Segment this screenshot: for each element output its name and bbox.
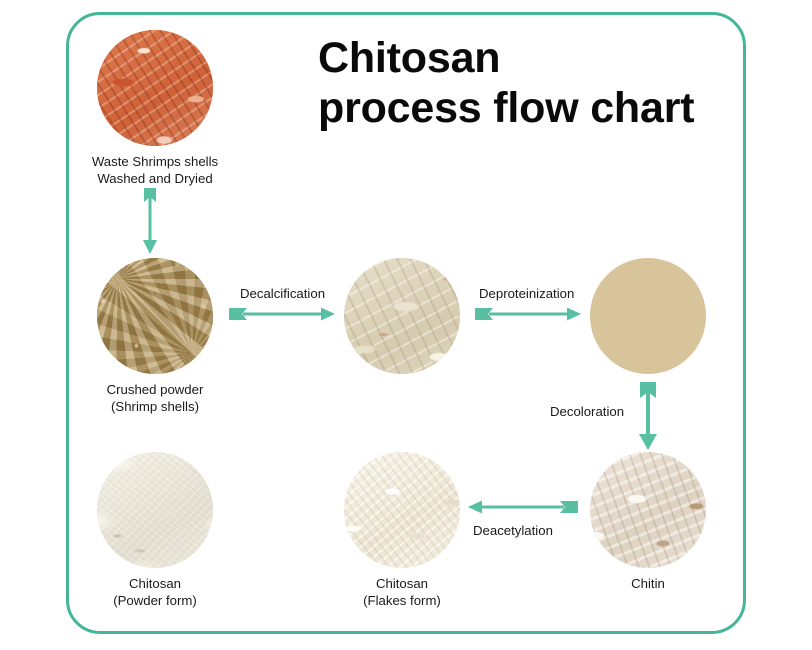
- deproteinized-flakes-photo: [590, 258, 706, 374]
- decalcified-shells-photo: [344, 258, 460, 374]
- caption-line-2: (Shrimp shells): [73, 398, 237, 415]
- caption-line-1: Chitin: [590, 575, 706, 592]
- node-waste-shrimp-shells[interactable]: Waste Shrimps shells Washed and Dryied: [97, 30, 213, 188]
- flowchart-canvas: Chitosan process flow chart Waste Shrimp…: [0, 0, 812, 650]
- node-crushed-powder[interactable]: Crushed powder (Shrimp shells): [97, 258, 213, 416]
- node-chitosan-powder[interactable]: Chitosan (Powder form): [97, 452, 213, 610]
- node-caption: Chitin: [590, 575, 706, 592]
- arrow-label-deproteinization: Deproteinization: [479, 286, 574, 301]
- caption-line-1: Chitosan: [320, 575, 484, 592]
- title-line-2: process flow chart: [318, 84, 738, 132]
- caption-line-1: Chitosan: [73, 575, 237, 592]
- arrow-label-decoloration: Decoloration: [550, 404, 624, 419]
- arrow-shrimp-to-crushed-icon: [140, 188, 160, 254]
- node-chitosan-flakes[interactable]: Chitosan (Flakes form): [344, 452, 460, 610]
- caption-line-1: Waste Shrimps shells: [61, 153, 249, 170]
- arrow-crushed-to-decalcified-icon: [229, 305, 335, 323]
- chitosan-flakes-photo: [344, 452, 460, 568]
- chitin-photo: [590, 452, 706, 568]
- chitosan-powder-photo: [97, 452, 213, 568]
- arrow-deproteinized-to-chitin-icon: [634, 382, 662, 450]
- arrow-label-deacetylation: Deacetylation: [473, 523, 553, 538]
- node-caption: Waste Shrimps shells Washed and Dryied: [61, 153, 249, 188]
- caption-line-2: Washed and Dryied: [61, 170, 249, 187]
- crushed-shrimp-shell-powder-photo: [97, 258, 213, 374]
- node-deproteinized-flakes[interactable]: [590, 258, 706, 374]
- node-caption: Crushed powder (Shrimp shells): [73, 381, 237, 416]
- node-chitin[interactable]: Chitin: [590, 452, 706, 592]
- node-decalcified-shells[interactable]: [344, 258, 460, 374]
- node-caption: Chitosan (Powder form): [73, 575, 237, 610]
- node-caption: Chitosan (Flakes form): [320, 575, 484, 610]
- waste-shrimp-shells-photo: [97, 30, 213, 146]
- caption-line-2: (Powder form): [73, 592, 237, 609]
- arrow-label-decalcification: Decalcification: [240, 286, 325, 301]
- page-title: Chitosan process flow chart: [318, 34, 738, 132]
- caption-line-1: Crushed powder: [73, 381, 237, 398]
- arrow-decalcified-to-deproteinized-icon: [475, 305, 581, 323]
- arrow-chitin-to-chitosan-flakes-icon: [468, 498, 578, 516]
- caption-line-2: (Flakes form): [320, 592, 484, 609]
- title-line-1: Chitosan: [318, 34, 738, 82]
